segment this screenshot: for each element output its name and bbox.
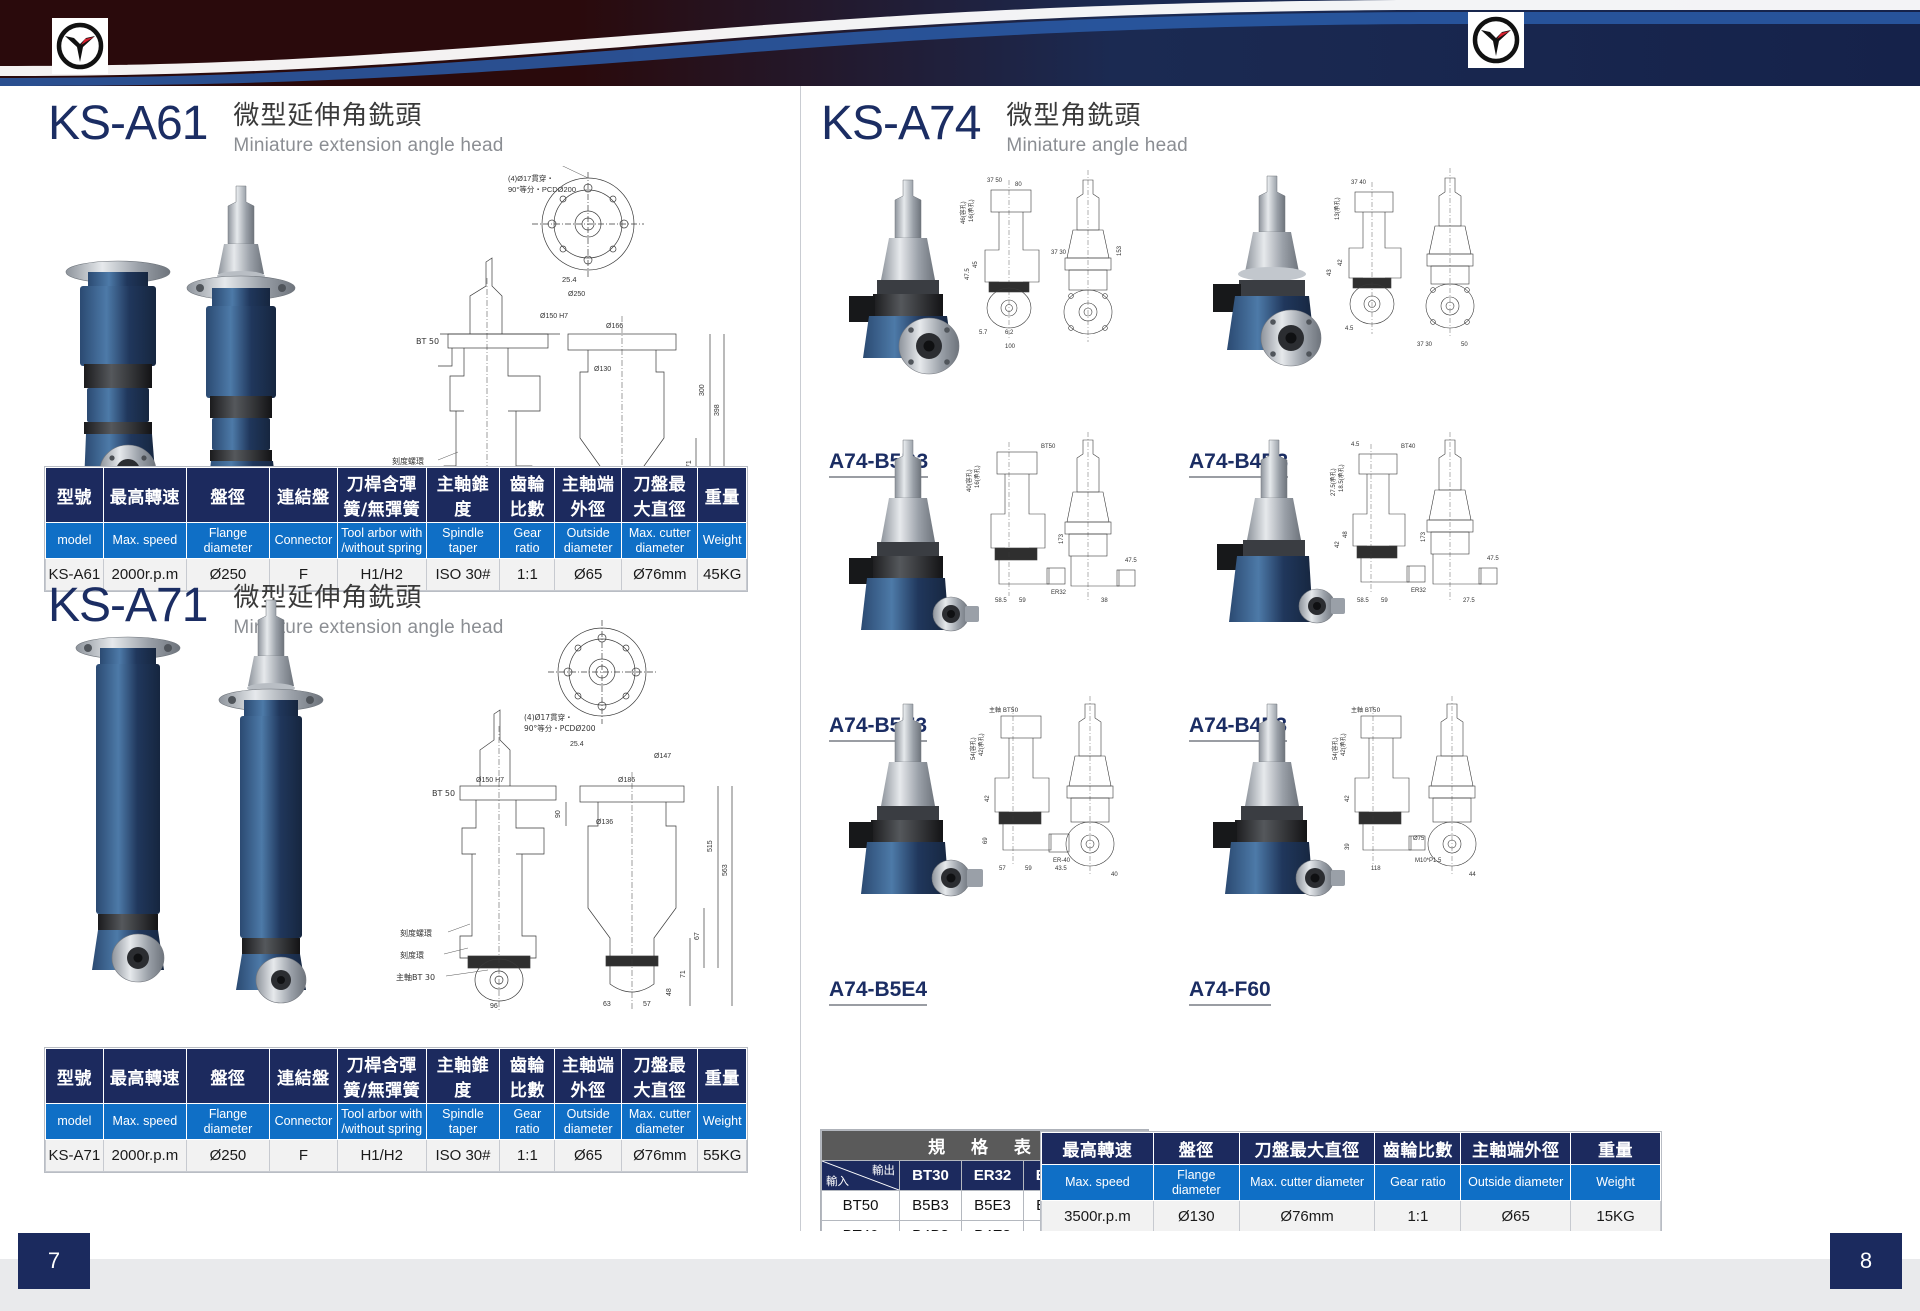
cell-weight: 15KG xyxy=(1571,1201,1661,1233)
table-header-row-cn: 型號 最高轉速 盤徑 連結盤 刀桿含彈簧/無彈簧 主軸錐度 齒輪比數 主軸端外徑… xyxy=(46,1049,747,1104)
svg-text:71: 71 xyxy=(680,970,687,978)
product-photo xyxy=(849,704,983,896)
svg-text:42: 42 xyxy=(1335,541,1341,548)
footer-grey-band xyxy=(0,1259,1920,1311)
page-number-left: 7 xyxy=(18,1233,90,1289)
svg-text:Ø130: Ø130 xyxy=(594,366,611,373)
svg-text:Ø186: Ø186 xyxy=(618,777,635,784)
table-row: KS-A71 2000r.p.m Ø250 F H1/H2 ISO 30# 1:… xyxy=(46,1140,747,1172)
model-block-a74-b4e3: 4.5 BT40 18.5(承孔) 27.5(承孔) 48 42 ER32 58… xyxy=(1179,426,1529,726)
svg-text:43: 43 xyxy=(1327,269,1333,276)
col-header-cn-connector: 連結盤 xyxy=(269,1049,337,1104)
footer: 7 8 xyxy=(0,1231,1920,1311)
svg-text:50: 50 xyxy=(1461,342,1468,348)
model-block-a74-b5e4: 主軸 BT50 42(承孔) 54(容孔) 42 69 ER-40 57 59 … xyxy=(819,690,1169,990)
col-header-cn-arbor: 刀桿含彈簧/無彈簧 xyxy=(337,1049,426,1104)
col-header-cn-speed: 最高轉速 xyxy=(103,468,186,523)
col-header-en-gear: Gear ratio xyxy=(1375,1165,1461,1201)
product-code: KS-A74 xyxy=(821,100,980,148)
combo-cell-b5e3: B5E3 xyxy=(962,1191,1024,1221)
col-header-cn-weight: 重量 xyxy=(1571,1133,1661,1165)
svg-text:153: 153 xyxy=(1117,245,1123,256)
col-header-cn-model: 型號 xyxy=(46,1049,104,1104)
col-header-en-speed: Max. speed xyxy=(103,1104,186,1140)
col-header-cn-weight: 重量 xyxy=(698,1049,747,1104)
svg-text:27.5: 27.5 xyxy=(1463,598,1475,604)
svg-text:37 30: 37 30 xyxy=(1417,342,1433,348)
svg-text:42: 42 xyxy=(1338,259,1344,266)
col-header-cn-outside: 主軸端外徑 xyxy=(1461,1133,1571,1165)
technical-drawings xyxy=(995,696,1114,874)
table-row: 3500r.p.m Ø130 Ø76mm 1:1 Ø65 15KG xyxy=(1042,1201,1661,1233)
svg-text:300: 300 xyxy=(699,384,706,396)
product-code: KS-A61 xyxy=(48,100,207,148)
col-header-en-outside: Outside diameter xyxy=(555,1104,622,1140)
cell-speed: 2000r.p.m xyxy=(103,1140,186,1172)
model-label: A74-F60 xyxy=(1189,978,1271,1006)
col-header-cn-weight: 重量 xyxy=(698,468,747,523)
col-header-cn-cutter: 刀盤最大直徑 xyxy=(622,1049,698,1104)
product-photo xyxy=(849,180,959,374)
col-header-en-gear: Gear ratio xyxy=(500,523,555,559)
svg-text:主軸 BT50: 主軸 BT50 xyxy=(989,706,1019,714)
cell-outside: Ø65 xyxy=(555,1140,622,1172)
col-header-cn-cutter: 刀盤最大直徑 xyxy=(622,468,698,523)
banner-swoosh-graphic xyxy=(0,0,1920,86)
cell-weight: 55KG xyxy=(698,1140,747,1172)
catalog-spread: KS-A61 微型延伸角銑頭 Miniature extension angle… xyxy=(0,0,1920,1311)
svg-text:37 40: 37 40 xyxy=(1351,180,1367,186)
svg-text:43.5: 43.5 xyxy=(1055,866,1067,872)
cell-flange: Ø130 xyxy=(1153,1201,1239,1233)
svg-text:59: 59 xyxy=(1025,866,1032,872)
col-header-en-speed: Max. speed xyxy=(103,523,186,559)
a74-b4e3-illustration: 4.5 BT40 18.5(承孔) 27.5(承孔) 48 42 ER32 58… xyxy=(1179,426,1529,726)
svg-text:90: 90 xyxy=(555,810,562,818)
product-name-en: Miniature extension angle head xyxy=(233,135,503,157)
combo-cell-b5b3: B5B3 xyxy=(900,1191,962,1221)
outline-drawing-a71 xyxy=(566,772,732,1010)
svg-text:主軸 BT50: 主軸 BT50 xyxy=(1351,706,1381,714)
svg-text:44: 44 xyxy=(1469,872,1476,878)
svg-text:Ø150 H7: Ø150 H7 xyxy=(476,777,504,784)
svg-text:Ø75: Ø75 xyxy=(1413,836,1425,842)
svg-text:Ø250: Ø250 xyxy=(568,291,585,298)
product-photo xyxy=(1213,704,1345,896)
col-header-cn-flange: 盤徑 xyxy=(1153,1133,1239,1165)
svg-text:563: 563 xyxy=(722,864,729,876)
table-header-row-cn: 型號 最高轉速 盤徑 連結盤 刀桿含彈簧/無彈簧 主軸錐度 齒輪比數 主軸端外徑… xyxy=(46,468,747,523)
cell-connector: F xyxy=(269,1140,337,1172)
svg-text:47.5: 47.5 xyxy=(1487,556,1499,562)
a74-b5b3-illustration: 37 50 80 16(承孔) 46(容孔) 45 47.5 5.7 6.2 1… xyxy=(819,162,1169,462)
product-name-en: Miniature angle head xyxy=(1006,135,1187,157)
combo-axis-output-label: 輸出 xyxy=(872,1162,895,1178)
svg-text:刻度螺環: 刻度螺環 xyxy=(392,456,424,466)
svg-text:42(承孔): 42(承孔) xyxy=(977,733,985,756)
table-header-row-en: Max. speed Flange diameter Max. cutter d… xyxy=(1042,1165,1661,1201)
col-header-en-arbor: Tool arbor with /without spring xyxy=(337,1104,426,1140)
col-header-cn-outside: 主軸端外徑 xyxy=(555,1049,622,1104)
product-heading-ks-a61: KS-A61 微型延伸角銑頭 Miniature extension angle… xyxy=(48,100,504,157)
svg-text:173: 173 xyxy=(1421,531,1427,542)
svg-text:47.5: 47.5 xyxy=(1125,558,1137,564)
spec-table-ks-a71: 型號 最高轉速 盤徑 連結盤 刀桿含彈簧/無彈簧 主軸錐度 齒輪比數 主軸端外徑… xyxy=(45,1048,747,1172)
combo-col-header-er32: ER32 xyxy=(962,1161,1024,1191)
table-header-row-en: model Max. speed Flange diameter Connect… xyxy=(46,1104,747,1140)
col-header-en-connector: Connector xyxy=(269,523,337,559)
product-name-group: 微型延伸角銑頭 Miniature extension angle head xyxy=(233,100,503,157)
cell-arbor: H1/H2 xyxy=(337,1140,426,1172)
product-name-group: 微型角銑頭 Miniature angle head xyxy=(1006,100,1187,157)
spec-table-ks-a61: 型號 最高轉速 盤徑 連結盤 刀桿含彈簧/無彈簧 主軸錐度 齒輪比數 主軸端外徑… xyxy=(45,467,747,591)
model-block-a74-b4b3: 37 40 13(承孔) 42 43 4.5 37 30 50 A74-B4B3 xyxy=(1179,162,1529,462)
col-header-en-cutter: Max. cutter diameter xyxy=(1239,1165,1375,1201)
svg-text:173: 173 xyxy=(1059,533,1065,544)
cell-flange: Ø250 xyxy=(187,1140,270,1172)
svg-text:63: 63 xyxy=(603,1001,611,1008)
logo-right xyxy=(1468,12,1524,68)
logo-left xyxy=(52,18,108,74)
svg-text:118: 118 xyxy=(1371,866,1381,872)
svg-text:80: 80 xyxy=(1015,182,1022,188)
technical-drawings xyxy=(1353,432,1497,600)
svg-text:ER32: ER32 xyxy=(1411,588,1427,594)
table-header-row-cn: 最高轉速 盤徑 刀盤最大直徑 齒輪比數 主軸端外徑 重量 xyxy=(1042,1133,1661,1165)
svg-text:4.5: 4.5 xyxy=(1345,326,1354,332)
svg-text:57: 57 xyxy=(999,866,1006,872)
col-header-en-connector: Connector xyxy=(269,1104,337,1140)
svg-text:BT 50: BT 50 xyxy=(416,337,439,346)
combo-axis-corner: 輸出 輸入 xyxy=(822,1161,900,1191)
col-header-en-weight: Weight xyxy=(1571,1165,1661,1201)
svg-text:58.5: 58.5 xyxy=(995,598,1007,604)
svg-text:6.2: 6.2 xyxy=(1005,330,1014,336)
col-header-cn-taper: 主軸錐度 xyxy=(426,1049,500,1104)
cell-model: KS-A71 xyxy=(46,1140,104,1172)
cell-outside: Ø65 xyxy=(1461,1201,1571,1233)
right-page: KS-A74 微型角銑頭 Miniature angle head xyxy=(800,86,1920,1231)
col-header-en-model: model xyxy=(46,1104,104,1140)
svg-text:(4)Ø17貫穿・: (4)Ø17貫穿・ xyxy=(508,173,554,183)
col-header-cn-cutter: 刀盤最大直徑 xyxy=(1239,1133,1375,1165)
page-number-right: 8 xyxy=(1830,1233,1902,1289)
col-header-cn-speed: 最高轉速 xyxy=(1042,1133,1154,1165)
technical-drawings xyxy=(985,170,1112,342)
svg-text:515: 515 xyxy=(707,840,714,852)
svg-text:398: 398 xyxy=(714,404,721,416)
ks-a71-drawings: (4)Ø17貫穿・ 90°等分・PCDØ200 25.4 BT 50 xyxy=(40,586,780,1026)
col-header-cn-flange: 盤徑 xyxy=(187,468,270,523)
svg-text:59: 59 xyxy=(1019,598,1026,604)
cell-gear: 1:1 xyxy=(1375,1201,1461,1233)
a74-f60-illustration: 主軸 BT50 42(承孔) 54(容孔) 42 39 118 Ø75 M10*… xyxy=(1179,690,1529,990)
product-photo-a71-right xyxy=(219,600,323,1003)
col-header-cn-gear: 齒輪比數 xyxy=(1375,1133,1461,1165)
company-logo-icon xyxy=(1471,15,1521,65)
product-photo xyxy=(1213,176,1321,366)
cell-cutter: Ø76mm xyxy=(622,1140,698,1172)
top-banner xyxy=(0,0,1920,86)
svg-text:58.5: 58.5 xyxy=(1357,598,1369,604)
section-drawing-a71 xyxy=(460,710,556,1012)
svg-text:25.4: 25.4 xyxy=(570,741,584,748)
svg-text:57: 57 xyxy=(643,1001,651,1008)
svg-text:37 50: 37 50 xyxy=(987,178,1003,184)
svg-text:45: 45 xyxy=(973,261,979,268)
flange-plan-view-a71 xyxy=(548,620,656,724)
svg-text:42: 42 xyxy=(1345,795,1351,802)
cell-speed: 3500r.p.m xyxy=(1042,1201,1154,1233)
a74-b5e3-illustration: BT50 16(承孔) 40(容孔) ER32 58.5 59 173 38 4… xyxy=(819,426,1169,726)
svg-text:54(容孔): 54(容孔) xyxy=(1331,737,1339,760)
svg-text:5.7: 5.7 xyxy=(979,330,988,336)
model-block-a74-f60: 主軸 BT50 42(承孔) 54(容孔) 42 39 118 Ø75 M10*… xyxy=(1179,690,1529,990)
col-header-en-weight: Weight xyxy=(698,523,747,559)
svg-text:59: 59 xyxy=(1381,598,1388,604)
col-header-cn-gear: 齒輪比數 xyxy=(500,468,555,523)
svg-text:90°等分・PCDØ200: 90°等分・PCDØ200 xyxy=(508,184,576,194)
col-header-cn-flange: 盤徑 xyxy=(187,1049,270,1104)
col-header-cn-arbor: 刀桿含彈簧/無彈簧 xyxy=(337,468,426,523)
col-header-en-gear: Gear ratio xyxy=(500,1104,555,1140)
svg-text:主軸BT 30: 主軸BT 30 xyxy=(396,972,435,982)
col-header-en-flange: Flange diameter xyxy=(187,523,270,559)
svg-text:67: 67 xyxy=(694,932,701,940)
svg-text:25.4: 25.4 xyxy=(562,275,577,284)
technical-drawings xyxy=(1349,168,1474,336)
col-header-en-taper: Spindle taper xyxy=(426,1104,500,1140)
svg-text:39: 39 xyxy=(1345,843,1351,850)
svg-text:13(承孔): 13(承孔) xyxy=(1333,197,1341,220)
a74-b4b3-illustration: 37 40 13(承孔) 42 43 4.5 37 30 50 xyxy=(1179,162,1529,462)
table-header-row-en: model Max. speed Flange diameter Connect… xyxy=(46,523,747,559)
svg-text:ER32: ER32 xyxy=(1051,590,1067,596)
cell-gear: 1:1 xyxy=(500,1140,555,1172)
svg-text:48: 48 xyxy=(1343,531,1349,538)
col-header-en-cutter: Max. cutter diameter xyxy=(622,1104,698,1140)
combo-axis-input-label: 輸入 xyxy=(826,1173,849,1189)
col-header-en-taper: Spindle taper xyxy=(426,523,500,559)
product-photo-a61-left xyxy=(66,261,170,497)
product-name-cn: 微型延伸角銑頭 xyxy=(233,102,503,132)
col-header-en-flange: Flange diameter xyxy=(1153,1165,1239,1201)
col-header-cn-taper: 主軸錐度 xyxy=(426,468,500,523)
svg-text:47.5: 47.5 xyxy=(965,268,971,280)
model-block-a74-b5e3: BT50 16(承孔) 40(容孔) ER32 58.5 59 173 38 4… xyxy=(819,426,1169,726)
svg-text:100: 100 xyxy=(1005,344,1016,350)
col-header-cn-model: 型號 xyxy=(46,468,104,523)
svg-text:42: 42 xyxy=(985,795,991,802)
cell-taper: ISO 30# xyxy=(426,1140,500,1172)
svg-text:16(承孔): 16(承孔) xyxy=(967,199,975,222)
svg-text:18.5(承孔): 18.5(承孔) xyxy=(1337,464,1345,492)
spec-table-ks-a74: 最高轉速 盤徑 刀盤最大直徑 齒輪比數 主軸端外徑 重量 Max. speed … xyxy=(1041,1132,1661,1233)
svg-text:BT40: BT40 xyxy=(1401,444,1416,450)
combo-col-header-bt30: BT30 xyxy=(900,1161,962,1191)
svg-text:46(容孔): 46(容孔) xyxy=(959,201,967,224)
product-photo xyxy=(1217,440,1345,623)
combo-row-label-bt50: BT50 xyxy=(822,1191,900,1221)
col-header-en-model: model xyxy=(46,523,104,559)
technical-drawings xyxy=(991,432,1135,602)
col-header-cn-gear: 齒輪比數 xyxy=(500,1049,555,1104)
a74-b5e4-illustration: 主軸 BT50 42(承孔) 54(容孔) 42 69 ER-40 57 59 … xyxy=(819,690,1169,990)
col-header-en-weight: Weight xyxy=(698,1104,747,1140)
svg-text:(4)Ø17貫穿・: (4)Ø17貫穿・ xyxy=(524,712,573,722)
svg-text:ER-40: ER-40 xyxy=(1053,858,1071,864)
illustration-group-ks-a71: (4)Ø17貫穿・ 90°等分・PCDØ200 25.4 BT 50 xyxy=(40,586,780,1026)
svg-text:40(容孔): 40(容孔) xyxy=(965,469,973,492)
svg-text:刻度螺環: 刻度螺環 xyxy=(400,928,432,938)
svg-text:54(容孔): 54(容孔) xyxy=(969,737,977,760)
col-header-cn-connector: 連結盤 xyxy=(269,468,337,523)
model-label-wrap: A74-F60 xyxy=(1189,978,1271,1006)
svg-text:96: 96 xyxy=(490,1003,498,1010)
svg-text:27.5(承孔): 27.5(承孔) xyxy=(1329,468,1337,496)
svg-text:37 30: 37 30 xyxy=(1051,250,1067,256)
svg-text:BT 50: BT 50 xyxy=(432,789,455,798)
svg-text:BT50: BT50 xyxy=(1041,444,1056,450)
svg-text:Ø147: Ø147 xyxy=(654,753,671,760)
svg-text:69: 69 xyxy=(983,837,989,844)
model-block-a74-b5b3: 37 50 80 16(承孔) 46(容孔) 45 47.5 5.7 6.2 1… xyxy=(819,162,1169,462)
svg-text:Ø136: Ø136 xyxy=(596,819,613,826)
svg-text:16(承孔): 16(承孔) xyxy=(973,465,981,488)
col-header-en-arbor: Tool arbor with /without spring xyxy=(337,523,426,559)
svg-text:90°等分・PCDØ200: 90°等分・PCDØ200 xyxy=(524,723,596,733)
svg-text:Ø166: Ø166 xyxy=(606,323,623,330)
col-header-cn-outside: 主軸端外徑 xyxy=(555,468,622,523)
left-page: KS-A61 微型延伸角銑頭 Miniature extension angle… xyxy=(0,86,800,1231)
svg-text:4.5: 4.5 xyxy=(1351,442,1360,448)
col-header-cn-speed: 最高轉速 xyxy=(103,1049,186,1104)
svg-text:38: 38 xyxy=(1101,598,1108,604)
col-header-en-outside: Outside diameter xyxy=(555,523,622,559)
cell-cutter: Ø76mm xyxy=(1239,1201,1375,1233)
product-photo-a71-left xyxy=(76,637,180,982)
svg-text:48: 48 xyxy=(666,988,673,996)
col-header-en-speed: Max. speed xyxy=(1042,1165,1154,1201)
model-label: A74-B5E4 xyxy=(829,978,927,1006)
col-header-en-flange: Flange diameter xyxy=(187,1104,270,1140)
model-label-wrap: A74-B5E4 xyxy=(829,978,927,1006)
col-header-en-cutter: Max. cutter diameter xyxy=(622,523,698,559)
col-header-en-outside: Outside diameter xyxy=(1461,1165,1571,1201)
svg-text:刻度環: 刻度環 xyxy=(400,950,424,960)
company-logo-icon xyxy=(55,21,105,71)
svg-text:M10*P1.5: M10*P1.5 xyxy=(1415,858,1442,864)
technical-drawings xyxy=(1355,696,1476,874)
svg-text:Ø150 H7: Ø150 H7 xyxy=(540,313,568,320)
product-name-cn: 微型角銑頭 xyxy=(1006,102,1187,132)
svg-text:40: 40 xyxy=(1111,872,1118,878)
svg-text:42(承孔): 42(承孔) xyxy=(1339,733,1347,756)
product-photo xyxy=(849,440,979,631)
product-heading-ks-a74: KS-A74 微型角銑頭 Miniature angle head xyxy=(821,100,1188,157)
